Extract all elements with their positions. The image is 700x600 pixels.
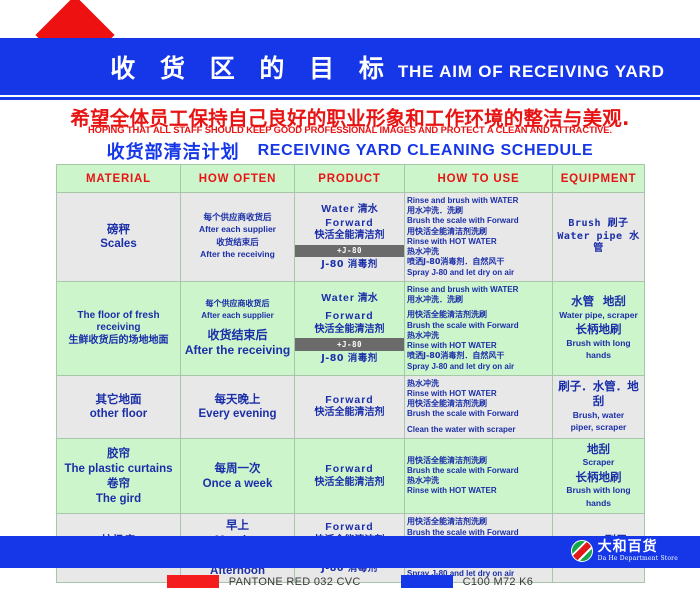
- logo-name-cn: 大和百货: [598, 540, 678, 554]
- equip-en-2: Water pipe: [557, 231, 622, 242]
- equip-en-1: Water pipe, scraper: [559, 310, 638, 320]
- header-band: 收 货 区 的 目 标 THE AIM OF RECEIVING YARD: [0, 38, 700, 95]
- often-en-1: Once a week: [203, 478, 273, 490]
- use-line: Rinse and brush with WATER: [407, 285, 550, 295]
- product-water-cn: 清水: [358, 204, 378, 215]
- material-cn-2: 卷帘: [107, 476, 130, 490]
- table-row: 其它地面 other floor 每天晚上 Every evening Forw…: [57, 375, 645, 438]
- use-line: Rinse with HOT WATER: [407, 341, 550, 351]
- column-header-how-to-use: HOW TO USE: [405, 165, 553, 193]
- cell-how-to-use: 热水冲洗 Rinse with HOT WATER 用快活全能清洁剂洗刷 Bru…: [405, 375, 553, 438]
- cell-how-often: 每天晚上 Every evening: [181, 375, 295, 438]
- legend-label-red: PANTONE RED 032 CVC: [229, 576, 361, 588]
- header-underline: [0, 97, 700, 100]
- use-line: 喷洒J-80消毒剂．自然风干: [407, 257, 550, 267]
- product-forward-cn: 快活全能清洁剂: [315, 407, 385, 418]
- use-line: 热水冲洗: [407, 379, 550, 389]
- header-title-cn: 收 货 区 的 目 标: [110, 49, 392, 85]
- product-plus-j80-bar: +J-80: [295, 338, 404, 350]
- material-cn: 胶帘: [107, 446, 130, 460]
- equip-cn-1: 刷子: [608, 218, 629, 229]
- cleaning-schedule-table: MATERIAL HOW OFTEN PRODUCT HOW TO USE EQ…: [56, 164, 645, 583]
- product-forward-en: Forward: [325, 217, 373, 229]
- column-header-material: MATERIAL: [57, 165, 181, 193]
- column-header-how-often: HOW OFTEN: [181, 165, 295, 193]
- use-line: Spray J-80 and let dry on air: [407, 268, 550, 278]
- color-legend: PANTONE RED 032 CVC C100 M72 K6: [0, 575, 700, 588]
- table-row: The floor of fresh receiving 生鲜收货后的场地地面 …: [57, 281, 645, 375]
- often-en-2: After the receiving: [200, 249, 275, 259]
- cell-product: Forward 快活全能清洁剂: [295, 375, 405, 438]
- cell-material: The floor of fresh receiving 生鲜收货后的场地地面: [57, 281, 181, 375]
- cell-how-to-use: Rinse and brush with WATER 用水冲洗．洗刷 用快活全能…: [405, 281, 553, 375]
- equip-en-1: Brush: [568, 218, 601, 229]
- equip-en-1: Scraper: [583, 457, 615, 467]
- cell-how-often: 每个供应商收货后 After each supplier 收货结束后 After…: [181, 193, 295, 282]
- product-forward-en: Forward: [325, 394, 373, 406]
- legend-item-blue: C100 M72 K6: [401, 575, 534, 588]
- cell-how-to-use: 用快活全能清洁剂洗刷 Brush the scale with Forward …: [405, 438, 553, 514]
- cell-material: 其它地面 other floor: [57, 375, 181, 438]
- use-line: 热水冲洗: [407, 331, 550, 341]
- equip-cn-3: 长柄地刷: [576, 322, 622, 336]
- equip-cn-2: 地刮: [603, 294, 626, 308]
- cell-equipment: Brush 刷子 Water pipe 水管: [553, 193, 645, 282]
- equip-cn-1: 水管: [571, 294, 594, 308]
- material-en: Scales: [100, 238, 136, 250]
- equip-en-2: Brush with long hands: [566, 338, 630, 361]
- header-title-en: THE AIM OF RECEIVING YARD: [398, 62, 665, 82]
- use-line: 热水冲洗: [407, 247, 550, 257]
- equip-en-2: Brush with long hands: [566, 485, 630, 508]
- product-forward-cn: 快活全能清洁剂: [315, 324, 385, 335]
- table-row: 磅秤 Scales 每个供应商收货后 After each supplier 收…: [57, 193, 645, 282]
- product-forward-en: Forward: [325, 521, 373, 533]
- equip-cn-2: 长柄地刷: [576, 470, 622, 484]
- cell-how-often: 每个供应商收货后 After each supplier 收货结束后 After…: [181, 281, 295, 375]
- product-forward-en: Forward: [325, 463, 373, 475]
- use-line: 喷洒J-80消毒剂．自然风干: [407, 351, 550, 361]
- cell-material: 磅秤 Scales: [57, 193, 181, 282]
- product-water-en: Water: [321, 292, 355, 304]
- cell-product: Water 清水 Forward 快活全能清洁剂 +J-80 J-80 消毒剂: [295, 193, 405, 282]
- cell-equipment: 水管 地刮 Water pipe, scraper 长柄地刷 Brush wit…: [553, 281, 645, 375]
- table-header-row: MATERIAL HOW OFTEN PRODUCT HOW TO USE EQ…: [57, 165, 645, 193]
- globe-logo-icon: [571, 540, 593, 562]
- cell-material: 胶帘 The plastic curtains 卷帘 The gird: [57, 438, 181, 514]
- cell-how-often: 每周一次 Once a week: [181, 438, 295, 514]
- use-line: 用水冲洗．洗刷: [407, 206, 550, 216]
- often-cn-1: 每个供应商收货后: [203, 213, 271, 223]
- cell-product: Water 清水 Forward 快活全能清洁剂 +J-80 J-80 消毒剂: [295, 281, 405, 375]
- column-header-product: PRODUCT: [295, 165, 405, 193]
- schedule-table-wrapper: MATERIAL HOW OFTEN PRODUCT HOW TO USE EQ…: [56, 164, 644, 583]
- equip-en-2: piper, scraper: [571, 422, 627, 432]
- often-cn-2: 收货结束后: [216, 238, 259, 248]
- legend-label-blue: C100 M72 K6: [463, 576, 534, 588]
- logo-name-en: Da He Department Store: [598, 556, 678, 562]
- table-row: 胶帘 The plastic curtains 卷帘 The gird 每周一次…: [57, 438, 645, 514]
- cell-product: Forward 快活全能清洁剂: [295, 438, 405, 514]
- often-en-2: After the receiving: [185, 343, 290, 357]
- use-line: Brush the scale with Forward: [407, 216, 550, 226]
- use-line: 热水冲洗: [407, 476, 550, 486]
- use-line: 用快活全能清洁剂洗刷: [407, 399, 550, 409]
- often-cn-1: 每个供应商收货后: [206, 299, 270, 308]
- use-line: 用快活全能清洁剂洗刷: [407, 227, 550, 237]
- slogan-en: HOPING THAT ALL STAFF SHOULD KEEP GOOD P…: [0, 124, 700, 135]
- often-en-1: After each supplier: [199, 224, 276, 234]
- cell-how-to-use: Rinse and brush with WATER 用水冲洗．洗刷 Brush…: [405, 193, 553, 282]
- material-cn: 生鲜收货后的场地地面: [69, 335, 169, 346]
- use-line: Brush the scale with Forward: [407, 409, 550, 419]
- product-j80-label: J-80 消毒剂: [297, 259, 402, 271]
- use-line: Clean the water with scraper: [407, 425, 550, 435]
- product-water-en: Water: [321, 203, 355, 215]
- equip-cn-1: 地刮: [587, 442, 610, 456]
- use-line: 用水冲洗．洗刷: [407, 295, 550, 305]
- use-line: Rinse with HOT WATER: [407, 486, 550, 496]
- column-header-equipment: EQUIPMENT: [553, 165, 645, 193]
- use-line: Rinse with HOT WATER: [407, 237, 550, 247]
- material-en: The floor of fresh receiving: [77, 310, 159, 334]
- use-line: 用快活全能清洁剂洗刷: [407, 456, 550, 466]
- often-cn-1: 每天晚上: [215, 392, 261, 406]
- company-logo: 大和百货 Da He Department Store: [571, 540, 678, 562]
- equip-en-1: Brush, water: [573, 410, 625, 420]
- use-line: Rinse and brush with WATER: [407, 196, 550, 206]
- use-line: 用快活全能清洁剂洗刷: [407, 310, 550, 320]
- subtitle-row: 收货部清洁计划 RECEIVING YARD CLEANING SCHEDULE: [0, 138, 700, 164]
- often-cn-1: 早上: [226, 518, 249, 532]
- use-line: Rinse with HOT WATER: [407, 389, 550, 399]
- cell-equipment: 地刮 Scraper 长柄地刷 Brush with long hands: [553, 438, 645, 514]
- product-plus-j80-bar: +J-80: [295, 245, 404, 257]
- often-en-1: After each supplier: [201, 311, 273, 320]
- use-line: 用快活全能清洁剂洗刷: [407, 517, 550, 527]
- poster-root: 收 货 区 的 目 标 THE AIM OF RECEIVING YARD 希望…: [0, 0, 700, 600]
- material-en-2: The gird: [96, 493, 141, 505]
- use-line: Brush the scale with Forward: [407, 321, 550, 331]
- use-line: Brush the scale with Forward: [407, 466, 550, 476]
- cell-equipment: 刷子．水管．地刮 Brush, water piper, scraper: [553, 375, 645, 438]
- product-forward-cn: 快活全能清洁剂: [315, 477, 385, 488]
- material-en: other floor: [90, 408, 148, 420]
- often-cn-1: 每周一次: [215, 461, 261, 475]
- legend-item-red: PANTONE RED 032 CVC: [167, 575, 361, 588]
- subtitle-cn: 收货部清洁计划: [107, 138, 240, 164]
- product-water-cn: 清水: [358, 293, 378, 304]
- product-j80-label: J-80 消毒剂: [297, 353, 402, 365]
- material-en: The plastic curtains: [64, 463, 172, 475]
- equip-cn-1: 刷子．水管．地刮: [558, 379, 639, 409]
- material-cn: 磅秤: [107, 222, 130, 236]
- use-line: Spray J-80 and let dry on air: [407, 362, 550, 372]
- product-forward-en: Forward: [325, 310, 373, 322]
- product-forward-cn: 快活全能清洁剂: [315, 230, 385, 241]
- often-cn-2: 收货结束后: [207, 328, 267, 342]
- often-en-1: Every evening: [199, 408, 277, 420]
- color-swatch-red: [167, 575, 219, 588]
- material-cn: 其它地面: [96, 392, 142, 406]
- subtitle-en: RECEIVING YARD CLEANING SCHEDULE: [258, 142, 594, 160]
- color-swatch-blue: [401, 575, 453, 588]
